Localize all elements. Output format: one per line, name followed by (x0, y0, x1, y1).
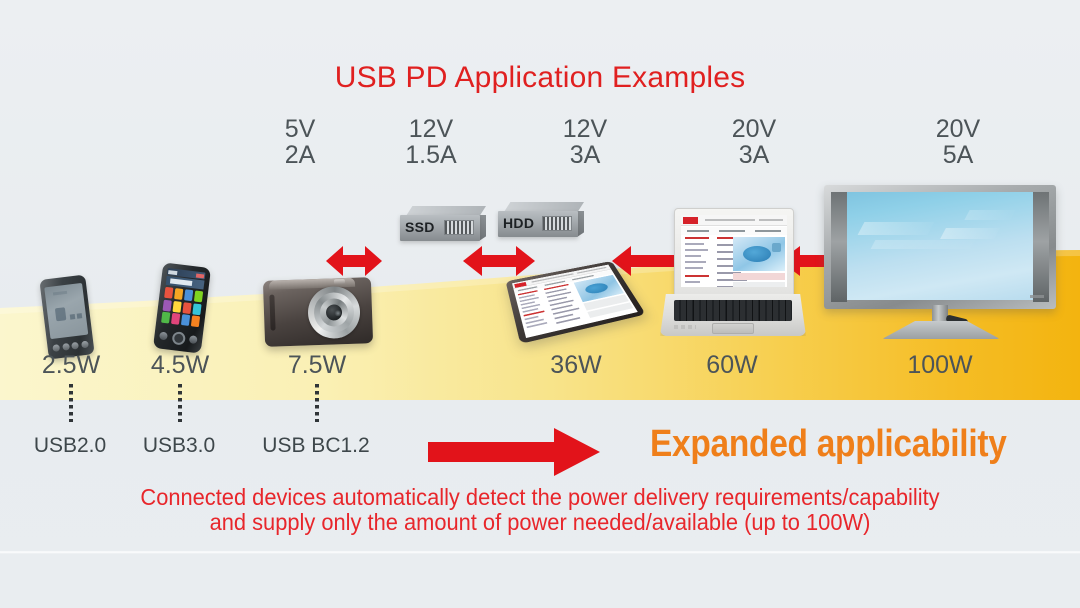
power-profile-1: 12V 1.5A (391, 116, 471, 168)
double-arrow-icon-0 (326, 244, 382, 278)
profile-current: 1.5A (391, 142, 471, 168)
double-arrow-icon-1 (463, 244, 535, 278)
laptop-trackpad (712, 323, 754, 334)
monitor-bezel (824, 185, 1056, 309)
shutter-button-icon (334, 279, 345, 284)
laptop-content-col-1 (685, 237, 711, 285)
caption: Connected devices automatically detect t… (27, 485, 1053, 535)
laptop-banner-2 (733, 282, 785, 287)
wattage-label-tablet: 36W (535, 351, 617, 380)
background-divider-line (0, 551, 1080, 554)
wattage-label-camera: 7.5W (276, 351, 358, 380)
device-feature-phone (39, 274, 94, 359)
monitor-speaker-left (831, 192, 847, 302)
spec-label-bc12: USB BC1.2 (247, 434, 385, 458)
device-camera (263, 277, 373, 347)
laptop-front-ports (674, 325, 696, 329)
monitor-speaker-right (1033, 192, 1049, 302)
profile-current: 5A (918, 142, 998, 168)
ssd-label: SSD (405, 219, 435, 235)
wattage-label-monitor: 100W (897, 351, 983, 380)
laptop-screen (681, 215, 787, 287)
hdd-side (577, 211, 584, 237)
laptop-hero-image (733, 237, 785, 271)
leader-line-bc12 (315, 384, 319, 422)
caption-line-1: Connected devices automatically detect t… (27, 485, 1053, 510)
slide-canvas: USB PD Application Examples 5V 2A 12V 1.… (0, 0, 1080, 608)
browser-nav (681, 227, 787, 235)
site-logo-icon (683, 217, 698, 224)
hdd-vent-icon (542, 216, 572, 231)
power-profile-row: 5V 2A 12V 1.5A 12V 3A 20V 3A 20V 5A (0, 116, 1080, 172)
ssd-side (479, 215, 486, 241)
profile-current: 3A (714, 142, 794, 168)
ssd-vent-icon (444, 220, 474, 235)
app-icon-grid (161, 287, 203, 327)
wattage-label-smartphone: 4.5W (139, 351, 221, 380)
phone-screen (44, 283, 88, 339)
power-profile-2: 12V 3A (545, 116, 625, 168)
monitor-screen (847, 192, 1033, 300)
profile-voltage: 20V (918, 116, 998, 142)
laptop-lid (674, 208, 794, 296)
power-profile-3: 20V 3A (714, 116, 794, 168)
device-monitor (824, 185, 1056, 340)
power-profile-4: 20V 5A (918, 116, 998, 168)
hdd-label: HDD (503, 215, 534, 231)
monitor-power-led (1030, 295, 1044, 298)
leader-line-usb2 (69, 384, 73, 422)
leader-line-usb3 (178, 384, 182, 422)
spec-label-usb2: USB2.0 (16, 434, 124, 458)
spec-label-usb3: USB3.0 (125, 434, 233, 458)
monitor-stand-base (882, 321, 1000, 339)
profile-current: 2A (260, 142, 340, 168)
device-ssd: SSD (400, 206, 486, 242)
wattage-label-feature-phone: 2.5W (30, 351, 112, 380)
page-title: USB PD Application Examples (0, 61, 1080, 95)
power-profile-0: 5V 2A (260, 116, 340, 168)
laptop-keyboard (674, 300, 792, 321)
browser-header (681, 215, 787, 226)
right-arrow-icon (428, 428, 600, 481)
caption-line-2: and supply only the amount of power need… (27, 510, 1053, 535)
laptop-banner-1 (733, 273, 785, 280)
profile-voltage: 20V (714, 116, 794, 142)
profile-voltage: 12V (391, 116, 471, 142)
device-hdd: HDD (498, 202, 584, 238)
wattage-label-laptop: 60W (691, 351, 773, 380)
expanded-applicability-label: Expanded applicability (650, 423, 1007, 466)
device-laptop (660, 208, 806, 336)
profile-voltage: 12V (545, 116, 625, 142)
profile-current: 3A (545, 142, 625, 168)
profile-voltage: 5V (260, 116, 340, 142)
